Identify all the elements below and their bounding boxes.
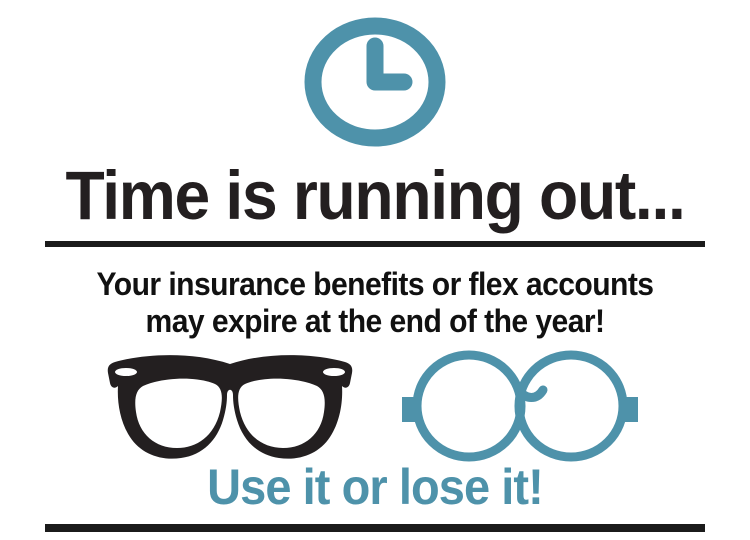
subtitle-line-2: may expire at the end of the year!: [23, 303, 728, 340]
page-title: Time is running out...: [26, 158, 724, 234]
subtitle-line-1: Your insurance benefits or flex accounts: [23, 266, 728, 303]
wayfarer-hinge-rivet-right: [323, 368, 345, 376]
wayfarer-hinge-rivet-left: [115, 368, 137, 376]
clock-icon: [300, 16, 450, 148]
eyeglasses-round-icon: [393, 350, 647, 462]
round-hinge-left: [402, 397, 418, 422]
tagline: Use it or lose it!: [23, 458, 728, 516]
divider-bottom: [45, 524, 705, 532]
glasses-illustration-row: [0, 350, 750, 462]
round-lens-left: [417, 355, 521, 457]
eyeglasses-wayfarer-icon: [103, 350, 357, 462]
round-hinge-right: [622, 397, 638, 422]
subtitle: Your insurance benefits or flex accounts…: [23, 266, 728, 340]
clock-hands: [375, 46, 404, 82]
poster-canvas: Time is running out... Your insurance be…: [0, 0, 750, 540]
round-lens-right: [519, 355, 623, 457]
round-bridge: [519, 390, 543, 398]
divider-top: [45, 241, 705, 247]
clock-icon-container: [0, 14, 750, 150]
